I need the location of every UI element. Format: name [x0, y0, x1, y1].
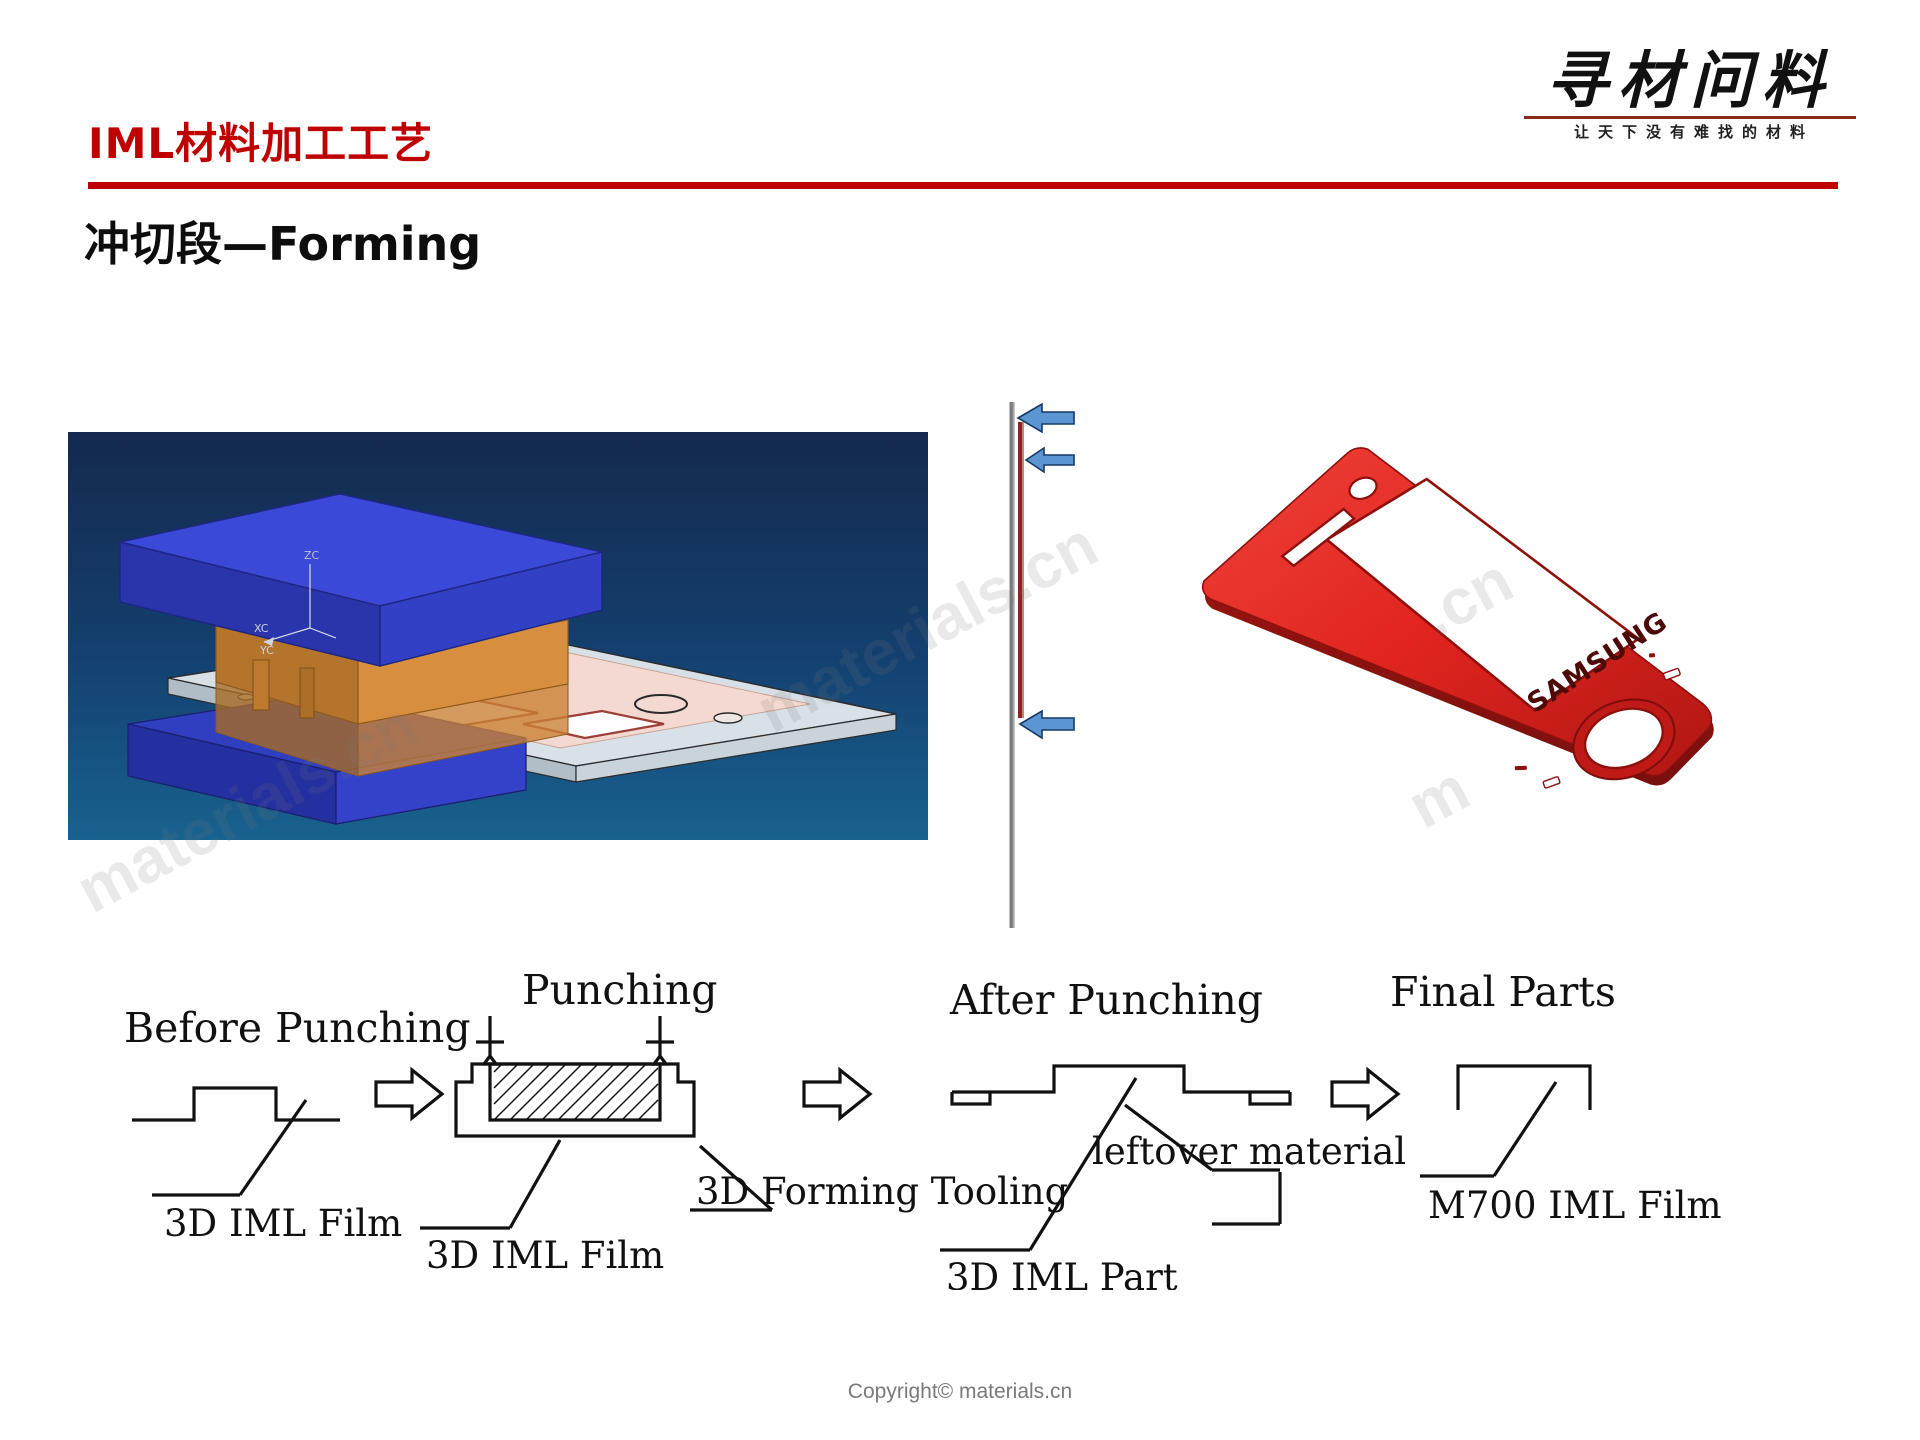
axis-label-z: ZC	[304, 549, 320, 562]
axis-label-y: YC	[259, 644, 274, 657]
flow-arrow-2	[804, 1070, 870, 1118]
flow-callout-1-1: 3D IML Film	[164, 1202, 402, 1245]
feed-arrow-3	[1020, 711, 1074, 738]
flow-callout-3-2: leftover material	[1092, 1130, 1406, 1173]
cad-render-svg: XC ZC YC	[68, 432, 928, 840]
feed-arrow-1	[1018, 404, 1074, 432]
flow-callout-4-1: M700 IML Film	[1428, 1184, 1722, 1227]
flow-heading-2: Punching	[522, 966, 718, 1014]
flow-callout-3-1: 3D IML Part	[946, 1256, 1178, 1290]
part-render-svg: SAMSUNG	[1180, 430, 1740, 830]
flow-step-1	[132, 1088, 340, 1195]
slide: IML材料加工工艺 寻材问料 让天下没有难找的材料 冲切段—Forming	[0, 0, 1920, 1440]
cad-render-figure: XC ZC YC	[68, 432, 928, 840]
logo-wordmark: 寻材问料	[1512, 48, 1868, 113]
bezel-body: SAMSUNG	[1198, 436, 1716, 806]
flow-callout-2-2: 3D Forming Tooling	[696, 1170, 1068, 1213]
mic-slot	[1515, 766, 1527, 770]
flow-heading-1: Before Punching	[124, 1004, 471, 1052]
flow-callout-2-1: 3D IML Film	[426, 1234, 664, 1277]
pin-hole	[1649, 653, 1655, 657]
flow-step-2-hatch	[494, 1064, 658, 1120]
vent-slot-2	[1543, 776, 1560, 788]
flow-heading-3: After Punching	[949, 976, 1263, 1024]
finished-part-figure: SAMSUNG	[1180, 430, 1740, 830]
flow-arrow-1	[376, 1070, 442, 1118]
process-flow-svg: Before Punching Punching After Punching …	[90, 960, 1850, 1290]
page-title: IML材料加工工艺	[88, 110, 433, 171]
feed-arrow-2	[1026, 448, 1074, 472]
vent-slot-1	[1663, 668, 1680, 680]
flow-arrow-3	[1332, 1070, 1398, 1118]
header-divider	[88, 182, 1838, 189]
cross-section-figure	[990, 400, 1150, 930]
axis-label-x: XC	[254, 622, 269, 635]
process-flow-figure: Before Punching Punching After Punching …	[90, 960, 1850, 1290]
section-subtitle: 冲切段—Forming	[84, 208, 481, 274]
flow-heading-4: Final Parts	[1390, 968, 1616, 1016]
cross-section-svg	[990, 400, 1150, 930]
flow-step-4	[1420, 1066, 1590, 1176]
logo-tagline: 让天下没有难找的材料	[1512, 121, 1868, 142]
copyright-footer: Copyright© materials.cn	[0, 1380, 1920, 1404]
brand-logo: 寻材问料 让天下没有难找的材料	[1512, 48, 1868, 168]
